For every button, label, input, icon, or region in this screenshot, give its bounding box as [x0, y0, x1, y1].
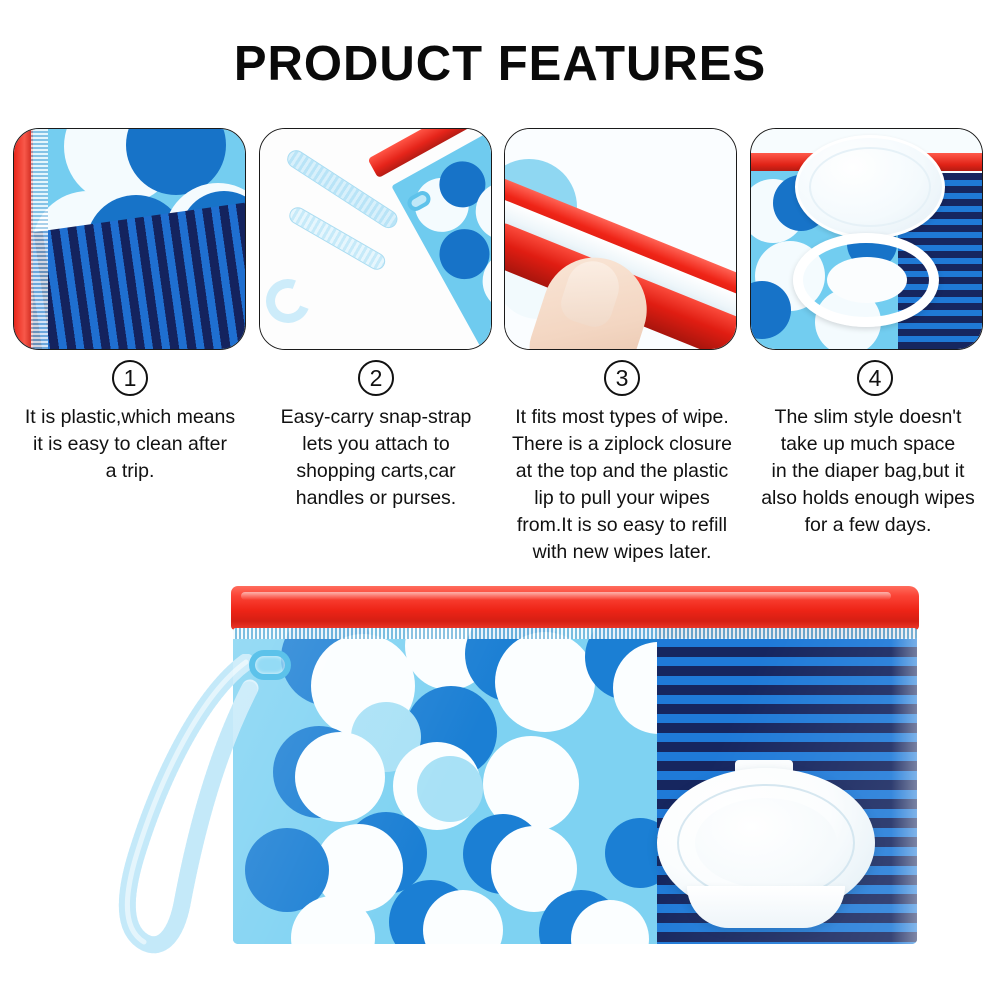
- feature-number-4: 4: [857, 360, 893, 396]
- caption-line: take up much space: [745, 431, 991, 458]
- feature-card-3: [504, 128, 737, 350]
- feature-caption-4: The slim style doesn't take up much spac…: [745, 404, 991, 539]
- product-features-page: PRODUCT FEATURES: [0, 0, 1000, 1000]
- caption-line: lets you attach to: [253, 431, 499, 458]
- feature-number-1: 1: [112, 360, 148, 396]
- wrist-strap: [110, 654, 260, 954]
- hero-product-photo: [0, 566, 1000, 1000]
- caption-line: for a few days.: [745, 512, 991, 539]
- feature-number-3: 3: [604, 360, 640, 396]
- caption-line: Easy-carry snap-strap: [253, 404, 499, 431]
- caption-line: handles or purses.: [253, 485, 499, 512]
- card-image-ziplock-closure: [505, 129, 736, 349]
- caption-line: with new wipes later.: [499, 539, 745, 566]
- caption-line: It is plastic,which means: [7, 404, 253, 431]
- feature-caption-3: It fits most types of wipe. There is a z…: [499, 404, 745, 566]
- caption-line: shopping carts,car: [253, 458, 499, 485]
- zipper-teeth: [31, 129, 48, 349]
- wrist-strap-shape: [110, 654, 260, 954]
- feature-card-4: [750, 128, 983, 350]
- lid-inner-face: [695, 798, 837, 888]
- caption-line: it is easy to clean after: [7, 431, 253, 458]
- dispenser-opening: [827, 257, 907, 303]
- caption-line: It fits most types of wipe.: [499, 404, 745, 431]
- lid-pull-lip: [687, 886, 845, 928]
- feature-number-2: 2: [358, 360, 394, 396]
- caption-line: lip to pull your wipes: [499, 485, 745, 512]
- flip-lid: [657, 768, 875, 928]
- feature-caption-1: It is plastic,which means it is easy to …: [7, 404, 253, 485]
- zipper-teeth-row: [233, 628, 917, 639]
- caption-line: from.It is so easy to refill: [499, 512, 745, 539]
- red-ziplock-top: [231, 586, 919, 630]
- strap-grommet: [249, 650, 291, 680]
- caption-line: a trip.: [7, 458, 253, 485]
- feature-caption-2: Easy-carry snap-strap lets you attach to…: [253, 404, 499, 512]
- feature-card-2: [259, 128, 492, 350]
- card-image-slim-style: [751, 129, 982, 349]
- card-image-snap-strap: [260, 129, 491, 349]
- page-title: PRODUCT FEATURES: [0, 40, 1000, 89]
- polka-dot-panel: [233, 628, 657, 944]
- caption-line: There is a ziplock closure: [499, 431, 745, 458]
- card-image-plastic-material: [14, 129, 245, 349]
- pouch-front: [233, 628, 917, 944]
- caption-line: also holds enough wipes: [745, 485, 991, 512]
- caption-line: in the diaper bag,but it: [745, 458, 991, 485]
- pouch-body: [231, 586, 919, 944]
- flip-lid-inner-ring: [809, 147, 931, 227]
- caption-line: The slim style doesn't: [745, 404, 991, 431]
- feature-card-1: [13, 128, 246, 350]
- feature-cards-row: [0, 128, 1000, 353]
- caption-line: at the top and the plastic: [499, 458, 745, 485]
